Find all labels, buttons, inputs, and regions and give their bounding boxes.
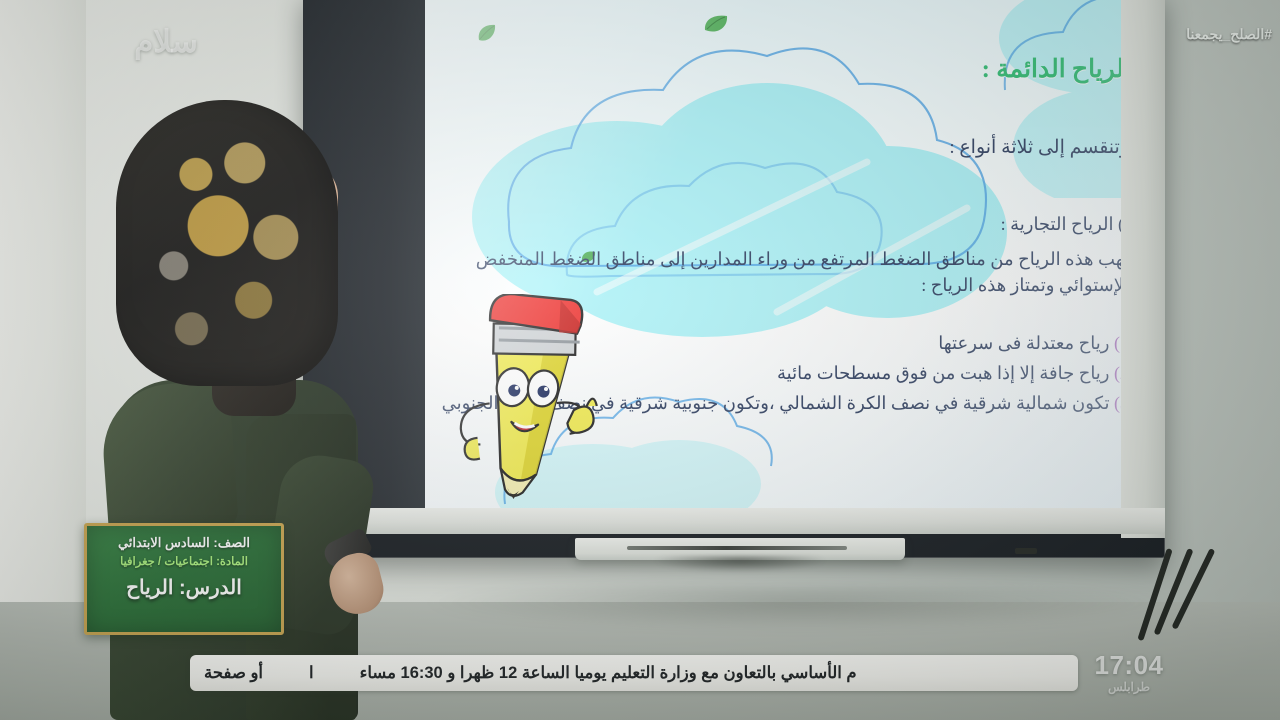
ticker-tail-text: أو صفحة <box>204 663 263 683</box>
presenter-hijab <box>116 100 338 386</box>
list-item-text: رياح معتدلة فى سرعتها <box>938 333 1109 353</box>
soundbar-slit <box>627 546 847 550</box>
lesson-title-label: الدرس: الرياح <box>95 573 273 603</box>
leaf-icon-left <box>475 22 499 51</box>
lesson-grade-label: الصف: السادس الابتدائي <box>95 533 273 553</box>
display-screen: الرياح الدائمة : وتنقسم إلى ثلاثة أنواع … <box>425 0 1155 513</box>
display-foot-shadow <box>655 556 825 572</box>
floor-shadow <box>420 584 1180 630</box>
broadcast-frame: الرياح الدائمة : وتنقسم إلى ثلاثة أنواع … <box>0 0 1280 720</box>
presentation-slide: الرياح الدائمة : وتنقسم إلى ثلاثة أنواع … <box>425 0 1155 513</box>
list-item-text: رياح جافة إلا إذا هبت من فوق مسطحات مائي… <box>777 363 1110 383</box>
slide-section-heading: أ) الرياح التجارية : <box>1001 214 1129 235</box>
lesson-info-board: الصف: السادس الابتدائي المادة: اجتماعيات… <box>84 523 284 635</box>
display-bottom-frame <box>303 508 1165 534</box>
display-port <box>1015 548 1037 554</box>
hashtag-banner: #الصلح_يجمعنا <box>1186 26 1272 43</box>
ticker-separator-mark: ا <box>309 663 314 683</box>
ticker-main-text: م الأساسي بالتعاون مع وزارة التعليم يومي… <box>360 663 857 683</box>
display-right-frame <box>1121 0 1165 538</box>
news-ticker: م الأساسي بالتعاون مع وزارة التعليم يومي… <box>190 655 1078 691</box>
pencil-mascot-icon <box>443 294 613 504</box>
leaf-icon-right <box>702 13 730 44</box>
smart-display: الرياح الدائمة : وتنقسم إلى ثلاثة أنواع … <box>303 0 1165 558</box>
slide-subtitle: وتنقسم إلى ثلاثة أنواع : <box>949 136 1129 159</box>
clock-widget: 17:04 طرابلس <box>1074 652 1184 694</box>
clock-time: 17:04 <box>1074 652 1184 678</box>
clock-city: طرابلس <box>1074 680 1184 694</box>
slide-paragraph: تهب هذه الرياح من مناطق الضغط المرتفع من… <box>449 246 1129 298</box>
lesson-subject-label: المادة: اجتماعيات / جغرافيا <box>95 553 273 571</box>
slide-title: الرياح الدائمة : <box>982 54 1131 84</box>
channel-logo: سلام <box>108 18 224 66</box>
